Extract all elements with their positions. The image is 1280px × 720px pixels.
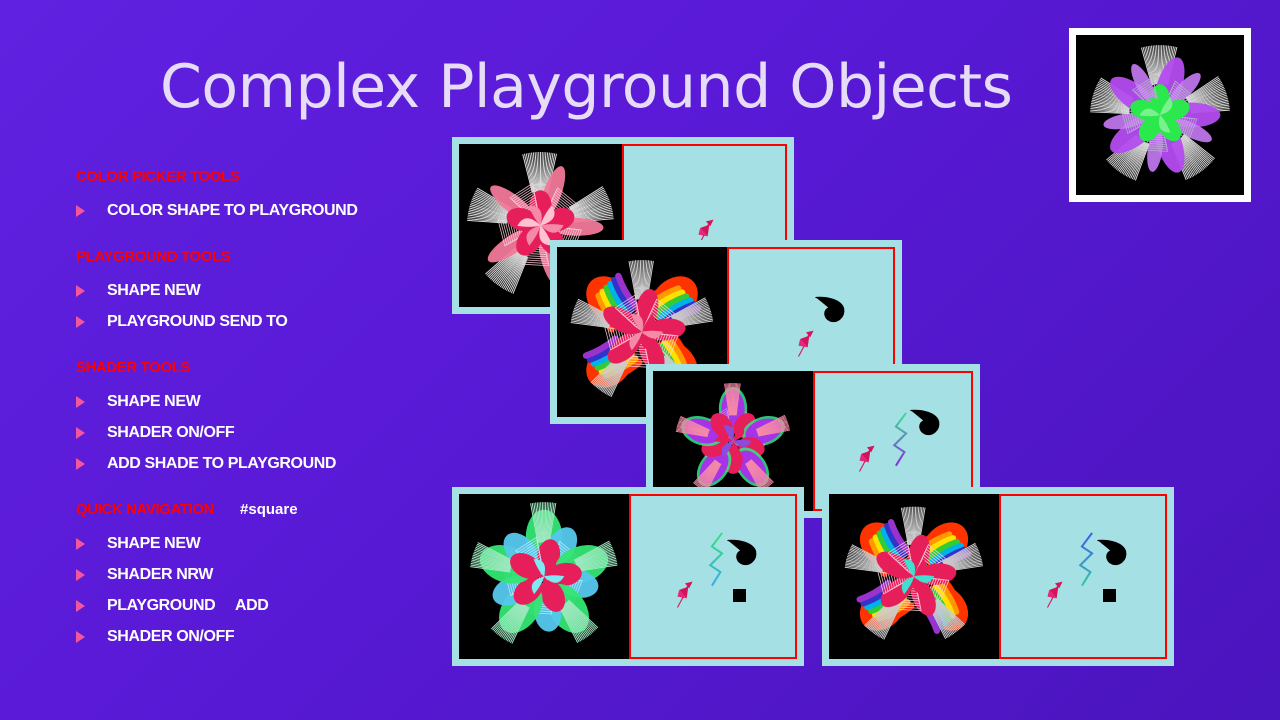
outline-item[interactable]: SHADER ON/OFF: [76, 417, 476, 448]
outline-item-label: SHAPE NEW: [107, 282, 200, 300]
pinwheel-artwork-icon: [1076, 35, 1244, 195]
outline-item-label: SHAPE NEW: [107, 393, 200, 411]
group-heading-suffix: #square: [240, 501, 298, 518]
outline-item[interactable]: SHAPE NEW: [76, 275, 476, 306]
outline-item[interactable]: SHADER NRW: [76, 559, 476, 590]
group-heading: PLAYGROUND TOOLS: [76, 248, 476, 265]
artwork-thumbnail[interactable]: [1069, 28, 1251, 202]
card-rainbow-red-final[interactable]: [822, 487, 1174, 666]
outline-item-label: PLAYGROUND ADD: [107, 597, 268, 615]
outline-item-label: SHAPE NEW: [107, 535, 200, 553]
spiral-mark-icon: [909, 408, 943, 438]
outline-item-label: SHADER NRW: [107, 566, 213, 584]
triangle-bullet-icon: [76, 631, 85, 643]
outline-item[interactable]: SHAPE NEW: [76, 386, 476, 417]
outline-item-label: SHADER ON/OFF: [107, 424, 234, 442]
triangle-bullet-icon: [76, 427, 85, 439]
outline-group: COLOR PICKER TOOLSCOLOR SHAPE TO PLAYGRO…: [76, 168, 476, 226]
spiral-mark-icon: [1096, 538, 1130, 568]
turtle-cursor-icon: [1044, 580, 1066, 610]
outline-item[interactable]: PLAYGROUND ADD: [76, 590, 476, 621]
triangle-bullet-icon: [76, 600, 85, 612]
outline-item[interactable]: ADD SHADE TO PLAYGROUND: [76, 448, 476, 479]
outline-item-label: PLAYGROUND SEND TO: [107, 313, 287, 331]
outline-group: QUICK NAVIGATION#squareSHAPE NEWSHADER N…: [76, 501, 476, 652]
spiral-mark-icon: [726, 538, 760, 568]
turtle-cursor-icon: [674, 580, 696, 610]
outline-item-label: SHADER ON/OFF: [107, 628, 234, 646]
thumbnail-canvas: [1076, 35, 1244, 195]
turtle-cursor-icon: [856, 444, 878, 474]
outline-item[interactable]: COLOR SHAPE TO PLAYGROUND: [76, 195, 476, 226]
outline-item-label: ADD SHADE TO PLAYGROUND: [107, 455, 336, 473]
triangle-bullet-icon: [76, 458, 85, 470]
outline-item[interactable]: PLAYGROUND SEND TO: [76, 306, 476, 337]
group-heading: SHADER TOOLS: [76, 359, 476, 376]
artwork-canvas[interactable]: [829, 494, 999, 659]
outline-group: PLAYGROUND TOOLSSHAPE NEWPLAYGROUND SEND…: [76, 248, 476, 337]
artwork-canvas[interactable]: [459, 494, 629, 659]
outline-item-label: COLOR SHAPE TO PLAYGROUND: [107, 202, 357, 220]
outline-item[interactable]: SHAPE NEW: [76, 528, 476, 559]
playground-panel[interactable]: [629, 494, 797, 659]
playground-panel[interactable]: [999, 494, 1167, 659]
outline-group: SHADER TOOLSSHAPE NEWSHADER ON/OFFADD SH…: [76, 359, 476, 479]
generative-artwork-icon: [829, 494, 999, 659]
turtle-cursor-icon: [795, 329, 817, 359]
generative-artwork-icon: [459, 494, 629, 659]
triangle-bullet-icon: [76, 569, 85, 581]
triangle-bullet-icon: [76, 396, 85, 408]
triangle-bullet-icon: [76, 538, 85, 550]
spiral-mark-icon: [814, 295, 848, 325]
group-heading-text: COLOR PICKER TOOLS: [76, 168, 239, 185]
square-mark-icon: [1103, 589, 1116, 602]
page-title: Complex Playground Objects: [160, 52, 1012, 122]
triangle-bullet-icon: [76, 285, 85, 297]
group-heading-text: PLAYGROUND TOOLS: [76, 248, 230, 265]
card-green-cyan-crimson[interactable]: [452, 487, 804, 666]
triangle-bullet-icon: [76, 316, 85, 328]
square-mark-icon: [733, 589, 746, 602]
outline-item[interactable]: SHADER ON/OFF: [76, 621, 476, 652]
outline-panel: COLOR PICKER TOOLSCOLOR SHAPE TO PLAYGRO…: [76, 168, 476, 674]
group-heading-text: SHADER TOOLS: [76, 359, 190, 376]
triangle-bullet-icon: [76, 205, 85, 217]
group-heading: COLOR PICKER TOOLS: [76, 168, 476, 185]
group-heading-text: QUICK NAVIGATION: [76, 501, 214, 518]
group-heading: QUICK NAVIGATION#square: [76, 501, 476, 518]
